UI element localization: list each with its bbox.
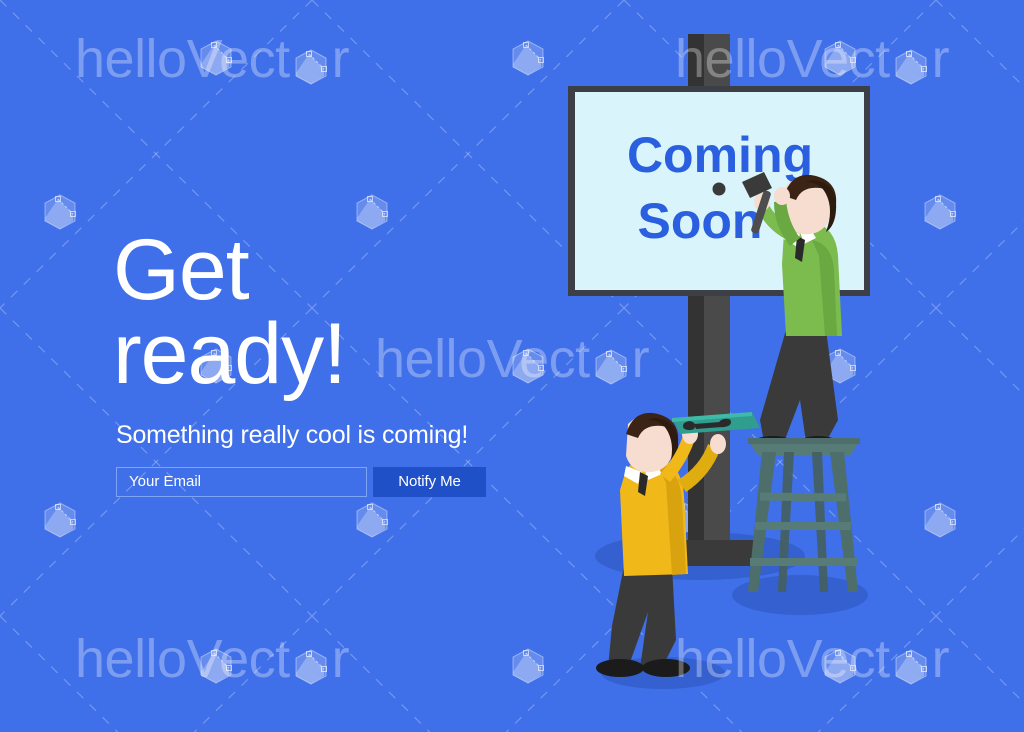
page-title: Get ready! <box>113 228 486 397</box>
notify-me-button[interactable]: Notify Me <box>373 467 486 497</box>
hero-copy: Get ready! Something really cool is comi… <box>113 228 486 497</box>
email-input[interactable] <box>116 467 367 497</box>
billboard-text-line1: Coming <box>627 127 813 183</box>
headline-line-2: ready! <box>113 306 346 402</box>
coming-soon-landing-page: Coming Soon <box>0 0 1024 732</box>
worker-on-ladder <box>742 172 842 452</box>
headline-line-1: Get <box>113 222 249 318</box>
billboard-text-line2: Soon <box>638 193 763 249</box>
notify-signup-form: Notify Me <box>116 467 486 497</box>
nail-icon <box>713 183 726 196</box>
hero-subtitle: Something really cool is coming! <box>116 421 486 450</box>
tool-tray <box>672 412 760 434</box>
